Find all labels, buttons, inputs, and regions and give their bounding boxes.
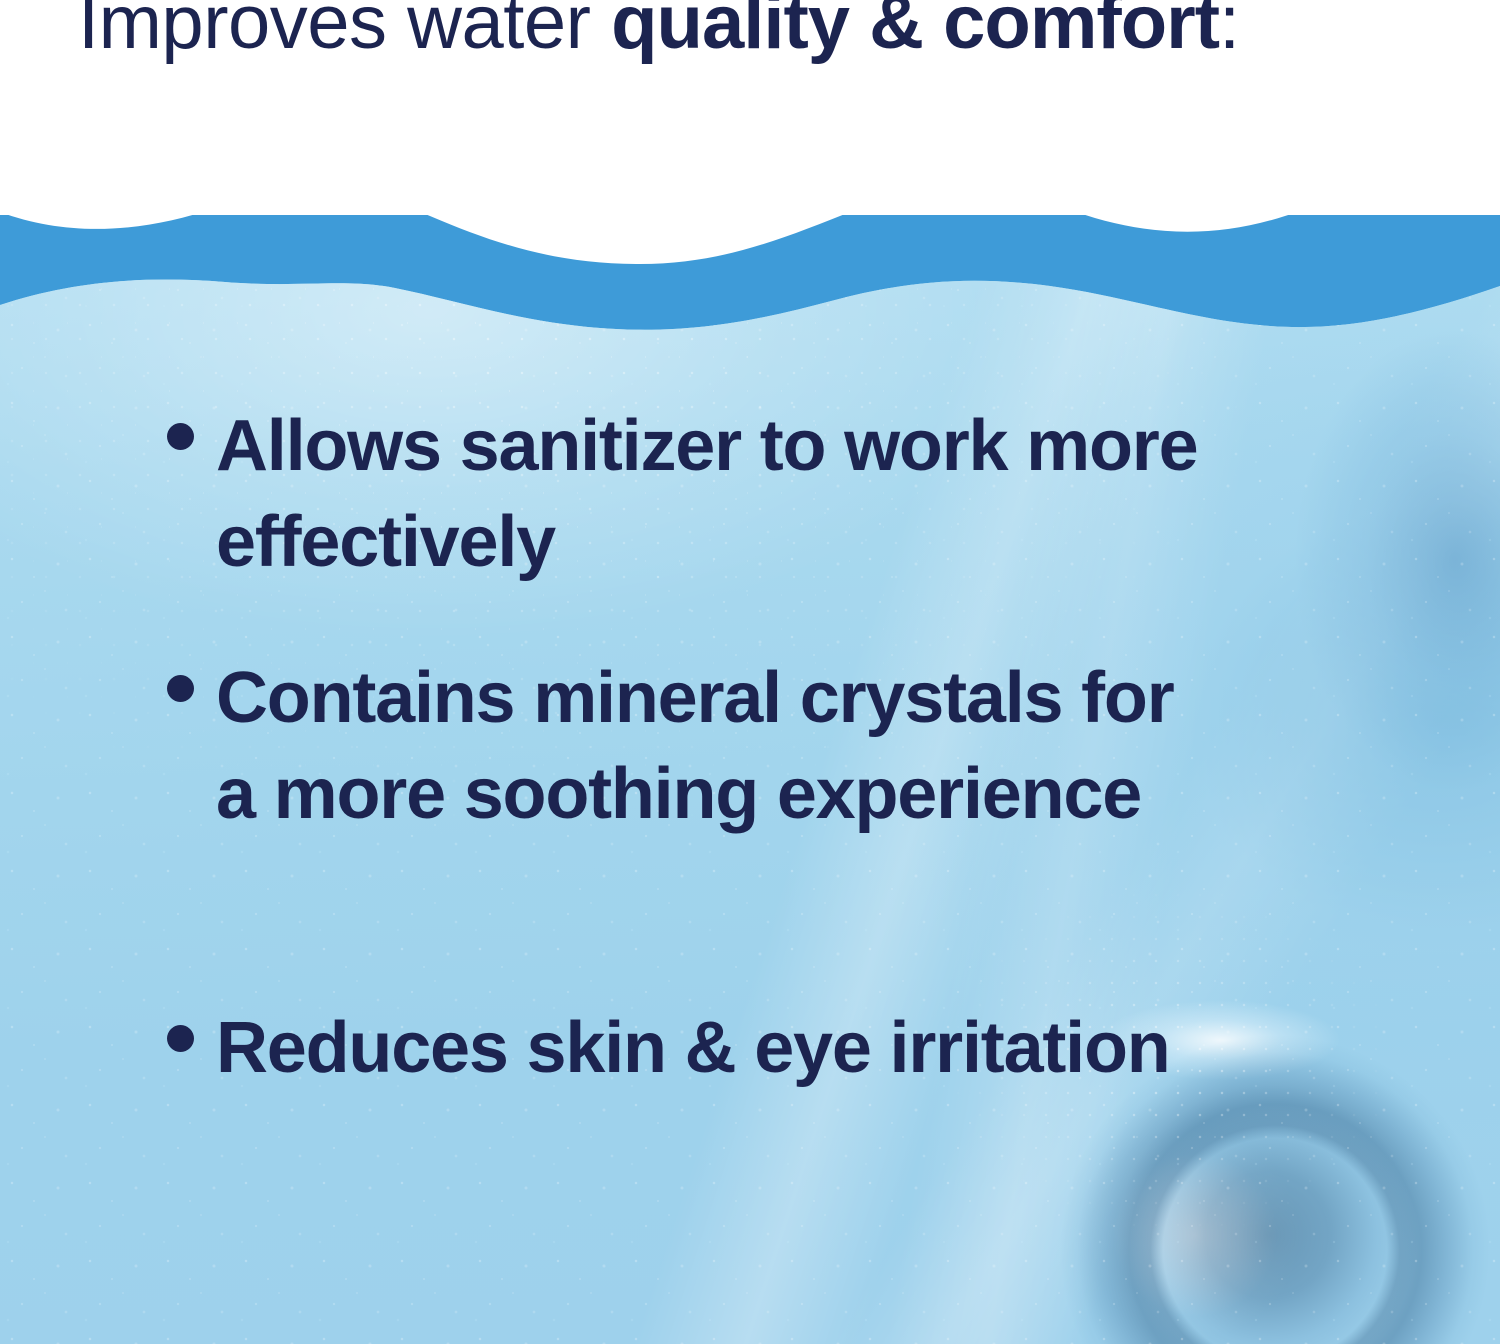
- page-title: Improves water quality & comfort:: [78, 0, 1240, 62]
- list-item: Contains mineral crystals for a more soo…: [167, 650, 1216, 842]
- bullet-dot-icon: [167, 675, 194, 702]
- page-title-regular: Improves water: [78, 0, 611, 65]
- list-item: Allows sanitizer to work more effectivel…: [167, 398, 1216, 590]
- list-item: Reduces skin & eye irritation: [167, 1000, 1170, 1096]
- bullet-dot-icon: [167, 423, 194, 450]
- heading-band: Improves water quality & comfort:: [0, 0, 1500, 215]
- product-feature-panel: Improves water quality & comfort: Allows…: [0, 0, 1500, 1344]
- list-item-label: Contains mineral crystals for a more soo…: [216, 650, 1216, 842]
- list-item-label: Reduces skin & eye irritation: [216, 1000, 1170, 1096]
- bullet-dot-icon: [167, 1025, 194, 1052]
- list-item-label: Allows sanitizer to work more effectivel…: [216, 398, 1216, 590]
- page-title-bold: quality & comfort: [611, 0, 1219, 65]
- page-title-suffix: :: [1219, 0, 1240, 65]
